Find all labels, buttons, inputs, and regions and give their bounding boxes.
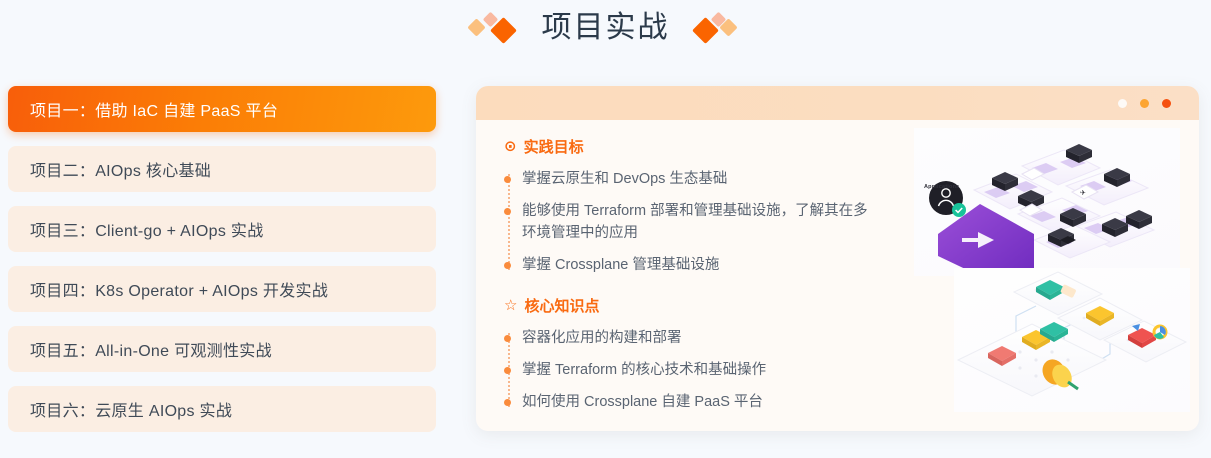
window-dot-white-icon[interactable]	[1118, 99, 1127, 108]
section-title: 实践目标	[524, 136, 584, 157]
project-detail-card: ⊙ 实践目标 掌握云原生和 DevOps 生态基础 能够使用 Terraform…	[476, 86, 1199, 431]
diamond-ornament-left-icon	[468, 12, 520, 46]
section-heading-goals: ⊙ 实践目标	[504, 136, 904, 157]
sidebar-item-project-3[interactable]: 项目三：Client-go + AIOps 实战	[8, 206, 436, 252]
list-item: 如何使用 Crossplane 自建 PaaS 平台	[522, 386, 882, 418]
section-heading-knowledge: ☆ 核心知识点	[504, 295, 904, 316]
list-item: 容器化应用的构建和部署	[522, 322, 882, 354]
applications-label: Applications	[924, 184, 959, 190]
isometric-platform-svg: ✈	[914, 128, 1180, 276]
project-list-sidebar: 项目一：借助 IaC 自建 PaaS 平台 项目二：AIOps 核心基础 项目三…	[8, 86, 436, 432]
card-text-content: ⊙ 实践目标 掌握云原生和 DevOps 生态基础 能够使用 Terraform…	[504, 136, 904, 418]
target-icon: ⊙	[504, 139, 517, 154]
card-title-bar	[476, 86, 1199, 120]
sidebar-item-label: 项目二：AIOps 核心基础	[30, 157, 211, 181]
svg-text:✈: ✈	[1080, 190, 1086, 197]
list-item: 能够使用 Terraform 部署和管理基础设施，了解其在多环境管理中的应用	[522, 195, 882, 249]
sidebar-item-project-2[interactable]: 项目二：AIOps 核心基础	[8, 146, 436, 192]
window-dot-orange-icon[interactable]	[1140, 99, 1149, 108]
page-title: 项目实战	[542, 13, 670, 45]
section-title: 核心知识点	[524, 295, 599, 316]
sidebar-item-project-1[interactable]: 项目一：借助 IaC 自建 PaaS 平台	[8, 86, 436, 132]
goals-bullet-list: 掌握云原生和 DevOps 生态基础 能够使用 Terraform 部署和管理基…	[504, 163, 904, 281]
sidebar-item-label: 项目六：云原生 AIOps 实战	[30, 397, 232, 421]
page-header: 项目实战	[0, 0, 1211, 58]
sidebar-item-label: 项目五：All-in-One 可观测性实战	[30, 337, 272, 361]
star-icon: ☆	[504, 298, 517, 313]
isometric-platform-illustration: ✈	[914, 128, 1180, 276]
sidebar-item-label: 项目四：K8s Operator + AIOps 开发实战	[30, 277, 328, 301]
isometric-nodes-illustration	[954, 268, 1190, 412]
list-item: 掌握 Crossplane 管理基础设施	[522, 249, 882, 281]
illustration-area: ✈	[906, 120, 1191, 420]
knowledge-bullet-list: 容器化应用的构建和部署 掌握 Terraform 的核心技术和基础操作 如何使用…	[504, 322, 904, 418]
main-stage: 项目一：借助 IaC 自建 PaaS 平台 项目二：AIOps 核心基础 项目三…	[0, 58, 1211, 458]
sidebar-item-project-6[interactable]: 项目六：云原生 AIOps 实战	[8, 386, 436, 432]
diamond-ornament-right-icon	[692, 12, 744, 46]
sidebar-item-project-5[interactable]: 项目五：All-in-One 可观测性实战	[8, 326, 436, 372]
isometric-nodes-svg	[954, 268, 1190, 412]
window-dot-red-icon[interactable]	[1162, 99, 1171, 108]
sidebar-item-label: 项目三：Client-go + AIOps 实战	[30, 217, 264, 241]
list-item: 掌握 Terraform 的核心技术和基础操作	[522, 354, 882, 386]
sidebar-item-project-4[interactable]: 项目四：K8s Operator + AIOps 开发实战	[8, 266, 436, 312]
card-body: ⊙ 实践目标 掌握云原生和 DevOps 生态基础 能够使用 Terraform…	[476, 120, 1199, 431]
sidebar-item-label: 项目一：借助 IaC 自建 PaaS 平台	[30, 97, 278, 121]
list-item: 掌握云原生和 DevOps 生态基础	[522, 163, 882, 195]
